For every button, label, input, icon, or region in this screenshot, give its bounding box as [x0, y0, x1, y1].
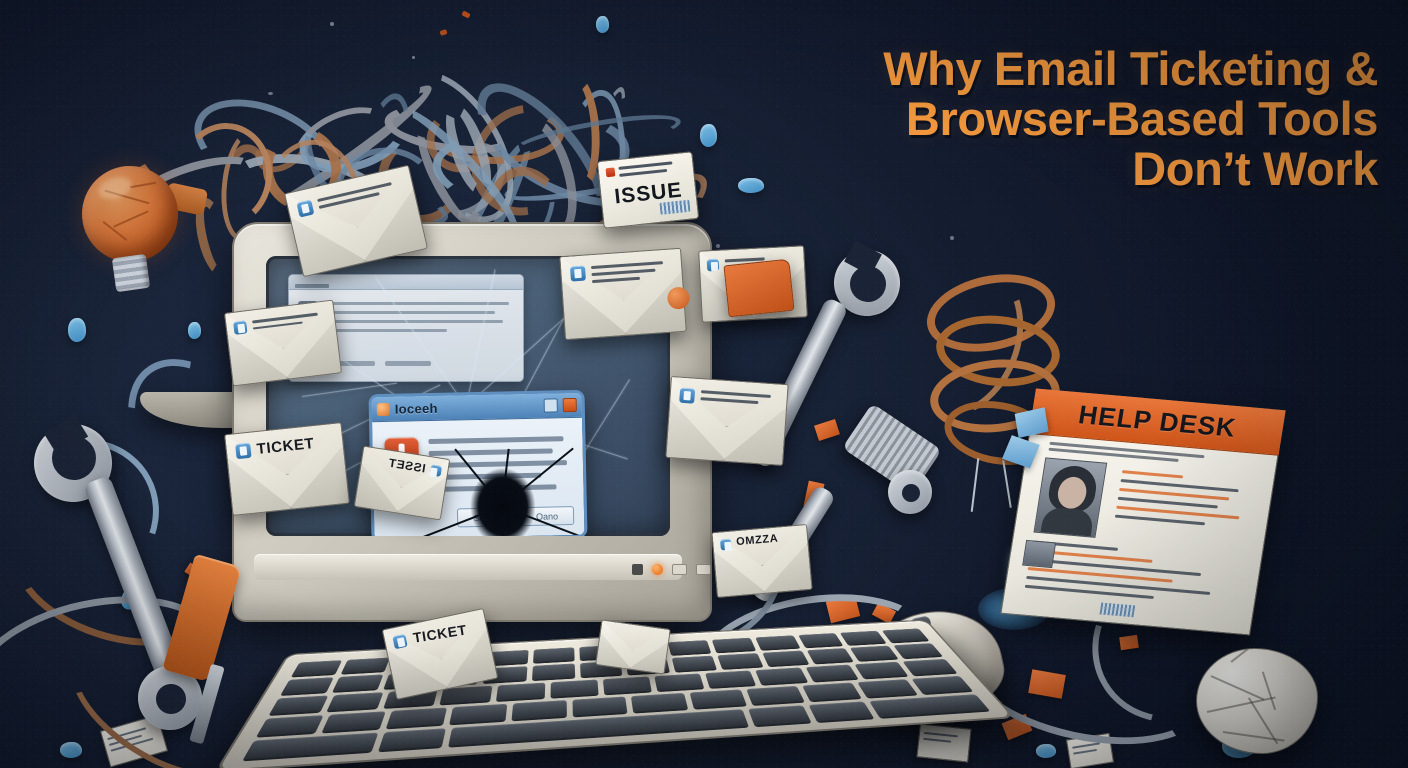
dialog-close-button[interactable] [563, 398, 577, 412]
speck [950, 236, 954, 240]
speck [330, 22, 334, 26]
help-desk-poster[interactable]: HELP DESK [1000, 388, 1285, 635]
crumpled-paper [1196, 648, 1318, 754]
power-led-indicator [652, 564, 663, 575]
blue-fragment [60, 742, 82, 758]
dialog-app-icon [377, 402, 390, 415]
dialog-title: Ioceeh [395, 400, 438, 416]
paper-note [1066, 733, 1114, 768]
speck [716, 244, 720, 248]
poster-thumbnail [1022, 540, 1056, 568]
headline-line-3: Don’t Work [883, 144, 1378, 194]
wrench-icon [826, 418, 966, 608]
dialog-maximize-button[interactable] [544, 398, 558, 412]
envelope-icon[interactable]: OMZZA [711, 524, 812, 598]
paper-scrap [1119, 635, 1139, 650]
blue-fragment [188, 322, 201, 339]
headline-line-2: Browser-Based Tools [883, 94, 1378, 144]
blue-fragment [596, 16, 609, 33]
monitor-menu-button[interactable] [632, 564, 643, 575]
speck [461, 10, 470, 18]
broken-lightbulb-icon [76, 162, 196, 290]
envelope-icon[interactable] [595, 619, 671, 674]
blue-fragment [700, 124, 717, 147]
card-stamp [659, 200, 690, 215]
envelope-ticket[interactable]: TICKET [224, 422, 350, 516]
speck [268, 92, 273, 95]
speck [412, 56, 415, 59]
headline-line-1: Why Email Ticketing & [883, 44, 1378, 94]
blue-fragment [68, 318, 86, 342]
speck [439, 29, 447, 36]
monitor-adjust-button-2[interactable] [696, 564, 711, 575]
scene-illustration: Ioceeh Seun Oano [0, 0, 1408, 768]
poster-title: HELP DESK [1076, 399, 1238, 443]
envelope-icon[interactable] [559, 248, 687, 340]
paper-note [916, 723, 971, 762]
issue-card[interactable]: ISSUE [597, 151, 700, 229]
envelope-icon[interactable] [224, 300, 342, 387]
monitor-controls[interactable] [632, 564, 711, 575]
window-titlebar [289, 275, 523, 290]
screwdriver-icon [160, 552, 250, 742]
page-title: Why Email Ticketing & Browser-Based Tool… [883, 44, 1378, 193]
orange-folder-icon [723, 259, 794, 318]
monitor-bezel [254, 554, 682, 580]
alert-icon [606, 167, 616, 177]
monitor-adjust-button-1[interactable] [672, 564, 687, 575]
paper-scrap [1028, 669, 1066, 699]
blue-fragment [1036, 744, 1056, 758]
envelope-icon[interactable] [665, 376, 788, 466]
poster-text-column-right [1114, 470, 1250, 535]
blue-fragment [738, 178, 764, 193]
portrait-photo [1033, 457, 1107, 537]
